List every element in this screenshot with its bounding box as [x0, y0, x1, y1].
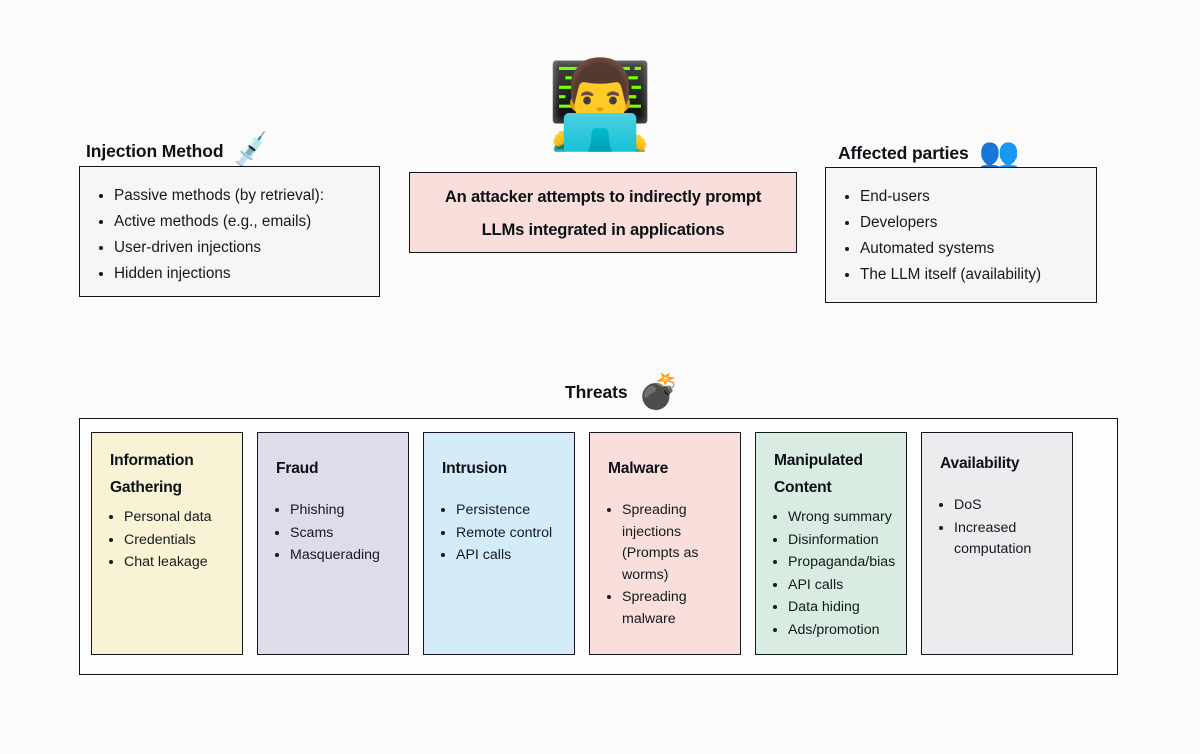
injection-method-list: Passive methods (by retrieval): Active m… — [80, 167, 379, 303]
list-item: Automated systems — [860, 236, 1082, 262]
threat-card-title: Availability — [940, 450, 1062, 477]
bomb-icon: 💣 — [638, 375, 680, 409]
attacker-statement-line-2: LLMs integrated in applications — [482, 213, 725, 246]
affected-parties-heading: Affected parties 👥 — [838, 137, 1020, 170]
list-item: Ads/promotion — [788, 620, 896, 642]
threat-card-title: Intrusion — [442, 455, 564, 482]
list-item: Disinformation — [788, 530, 896, 552]
threat-card-title: Manipulated Content — [774, 447, 896, 501]
injection-method-box: Passive methods (by retrieval): Active m… — [79, 166, 380, 297]
threat-card-list: DoS Increased computation — [932, 495, 1062, 562]
threat-card-list: Spreading injections (Prompts as worms) … — [600, 500, 730, 631]
threats-card-row: Information Gathering Personal data Cred… — [91, 432, 1073, 655]
affected-parties-box: End-users Developers Automated systems T… — [825, 167, 1097, 303]
busts-in-silhouette-icon: 👥 — [979, 137, 1020, 170]
threat-card-information-gathering[interactable]: Information Gathering Personal data Cred… — [91, 432, 243, 655]
threat-card-intrusion[interactable]: Intrusion Persistence Remote control API… — [423, 432, 575, 655]
threat-card-title: Malware — [608, 455, 730, 482]
list-item: Chat leakage — [124, 552, 232, 574]
threats-heading: Threats 💣 — [565, 375, 680, 409]
list-item: Masquerading — [290, 545, 398, 567]
list-item: Scams — [290, 523, 398, 545]
list-item: User-driven injections — [114, 235, 365, 261]
list-item: Increased computation — [954, 518, 1062, 561]
diagram-canvas: Injection Method 💉 Passive methods (by r… — [0, 0, 1200, 754]
threat-card-fraud[interactable]: Fraud Phishing Scams Masquerading — [257, 432, 409, 655]
list-item: Spreading injections (Prompts as worms) — [622, 500, 730, 586]
threat-card-list: Phishing Scams Masquerading — [268, 500, 398, 568]
list-item: Credentials — [124, 530, 232, 552]
list-item: Active methods (e.g., emails) — [114, 209, 365, 235]
threat-card-availability[interactable]: Availability DoS Increased computation — [921, 432, 1073, 655]
threat-card-list: Wrong summary Disinformation Propaganda/… — [766, 507, 896, 642]
attacker-statement-box: An attacker attempts to indirectly promp… — [409, 172, 797, 253]
list-item: Wrong summary — [788, 507, 896, 529]
threat-card-list: Personal data Credentials Chat leakage — [102, 507, 232, 575]
threat-card-list: Persistence Remote control API calls — [434, 500, 564, 568]
list-item: DoS — [954, 495, 1062, 517]
list-item: Phishing — [290, 500, 398, 522]
list-item: API calls — [456, 545, 564, 567]
affected-parties-label: Affected parties — [838, 143, 969, 164]
affected-parties-list: End-users Developers Automated systems T… — [826, 168, 1096, 304]
list-item: Propaganda/bias — [788, 552, 896, 574]
threat-card-malware[interactable]: Malware Spreading injections (Prompts as… — [589, 432, 741, 655]
threat-card-title: Information Gathering — [110, 447, 232, 501]
man-technologist-icon: 👨‍💻 — [0, 62, 1200, 148]
list-item: Persistence — [456, 500, 564, 522]
list-item: Data hiding — [788, 597, 896, 619]
attacker-statement-line-1: An attacker attempts to indirectly promp… — [445, 180, 761, 213]
list-item: Passive methods (by retrieval): — [114, 183, 365, 209]
threat-card-title: Fraud — [276, 455, 398, 482]
list-item: Developers — [860, 210, 1082, 236]
threat-card-manipulated-content[interactable]: Manipulated Content Wrong summary Disinf… — [755, 432, 907, 655]
threats-label: Threats — [565, 382, 628, 403]
list-item: Personal data — [124, 507, 232, 529]
list-item: End-users — [860, 184, 1082, 210]
list-item: The LLM itself (availability) — [860, 262, 1082, 288]
list-item: Spreading malware — [622, 587, 730, 630]
list-item: Remote control — [456, 523, 564, 545]
list-item: Hidden injections — [114, 261, 365, 287]
list-item: API calls — [788, 575, 896, 597]
